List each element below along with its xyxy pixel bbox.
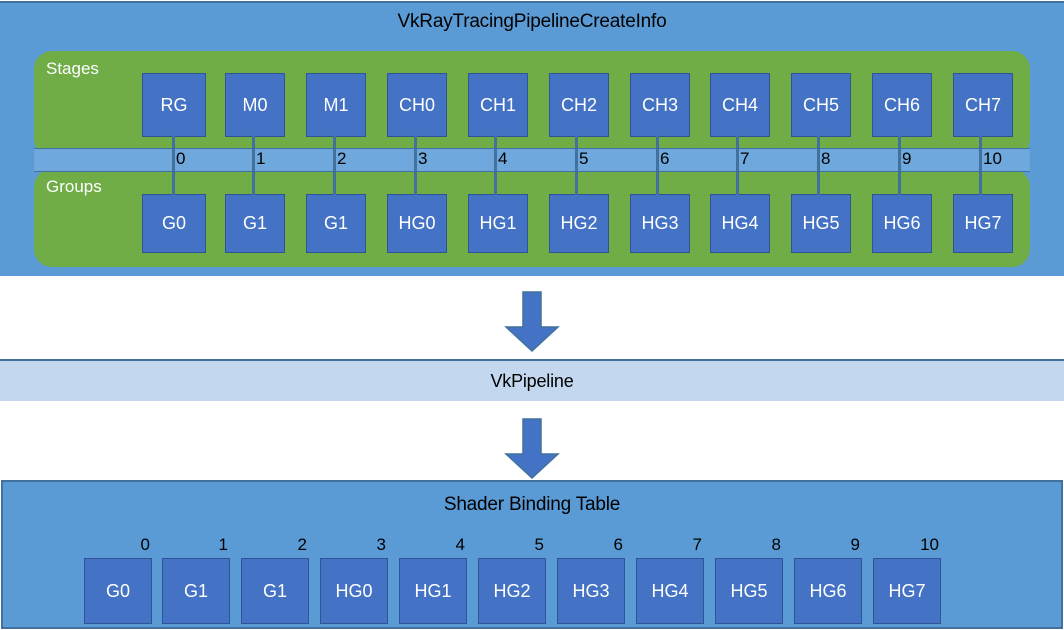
arrow-down-icon-to-sbt [504,418,560,480]
stage-cell: CH2 [549,73,609,137]
group-cell: HG1 [468,194,528,253]
band-index-label: 10 [980,148,1002,170]
stages-label: Stages [46,59,99,79]
band-index-label: 0 [173,148,185,170]
stage-cell: CH4 [710,73,770,137]
stage-connector-line [494,135,497,149]
stage-cell: CH0 [387,73,447,137]
group-cell: HG4 [710,194,770,253]
group-cell: HG7 [953,194,1013,253]
create-info-panel: VkRayTracingPipelineCreateInfo Stages Gr… [0,1,1064,276]
stage-cell: RG [142,73,206,137]
group-connector-line [333,170,336,195]
sbt-cell: G1 [241,558,309,624]
stage-connector-line [979,135,982,149]
sbt-cell: HG4 [636,558,704,624]
shader-binding-table-title: Shader Binding Table [3,494,1061,516]
stage-connector-line [414,135,417,149]
band-index-label: 1 [253,148,265,170]
group-connector-line [898,170,901,195]
stage-cell: M0 [225,73,285,137]
band-index-label: 3 [415,148,427,170]
band-index-label: 2 [334,148,346,170]
group-cell: G1 [306,194,366,253]
sbt-index-label: 3 [320,534,389,556]
stage-connector-line [172,135,175,149]
sbt-cell: HG7 [873,558,941,624]
group-connector-line [494,170,497,195]
group-connector-line [575,170,578,195]
band-index-label: 4 [495,148,507,170]
stage-connector-line [252,135,255,149]
group-connector-line [414,170,417,195]
band-index-label: 8 [818,148,830,170]
sbt-cell: HG2 [478,558,546,624]
group-connector-line [979,170,982,195]
group-connector-line [817,170,820,195]
sbt-index-label: 4 [399,534,468,556]
sbt-index-label: 6 [557,534,626,556]
group-cell: G0 [142,194,206,253]
sbt-index-label: 10 [873,534,942,556]
group-connector-line [656,170,659,195]
stage-cell: M1 [306,73,366,137]
sbt-index-label: 8 [715,534,784,556]
stage-connector-line [575,135,578,149]
stage-connector-line [333,135,336,149]
sbt-cell: HG6 [794,558,862,624]
band-index-label: 9 [899,148,911,170]
stage-connector-line [656,135,659,149]
group-cell: HG2 [549,194,609,253]
stage-connector-line [736,135,739,149]
sbt-index-label: 0 [84,534,153,556]
create-info-title: VkRayTracingPipelineCreateInfo [0,11,1064,33]
group-cell: HG5 [791,194,851,253]
group-cell: HG3 [630,194,690,253]
sbt-index-label: 2 [241,534,310,556]
sbt-cell: HG0 [320,558,388,624]
stage-connector-line [898,135,901,149]
group-connector-line [172,170,175,195]
group-cell: HG0 [387,194,447,253]
groups-label: Groups [46,177,102,197]
sbt-cell: G0 [84,558,152,624]
group-cell: G1 [225,194,285,253]
pipeline-panel: VkPipeline [0,359,1064,401]
group-connector-line [736,170,739,195]
sbt-index-label: 5 [478,534,547,556]
stage-cell: CH3 [630,73,690,137]
sbt-index-label: 9 [794,534,863,556]
band-index-label: 5 [576,148,588,170]
band-index-label: 6 [657,148,669,170]
arrow-down-icon-to-pipeline [504,291,560,353]
band-index-label: 7 [737,148,749,170]
stage-connector-line [817,135,820,149]
sbt-index-label: 1 [162,534,231,556]
group-connector-line [252,170,255,195]
sbt-cell: HG1 [399,558,467,624]
group-cell: HG6 [872,194,932,253]
sbt-index-label: 7 [636,534,705,556]
stage-cell: CH7 [953,73,1013,137]
stage-cell: CH6 [872,73,932,137]
shader-binding-table-panel: Shader Binding Table G0G1G1HG0HG1HG2HG3H… [1,480,1063,629]
sbt-cell: G1 [162,558,230,624]
sbt-cell: HG3 [557,558,625,624]
pipeline-title: VkPipeline [0,371,1064,392]
stage-cell: CH5 [791,73,851,137]
sbt-cell: HG5 [715,558,783,624]
stage-cell: CH1 [468,73,528,137]
